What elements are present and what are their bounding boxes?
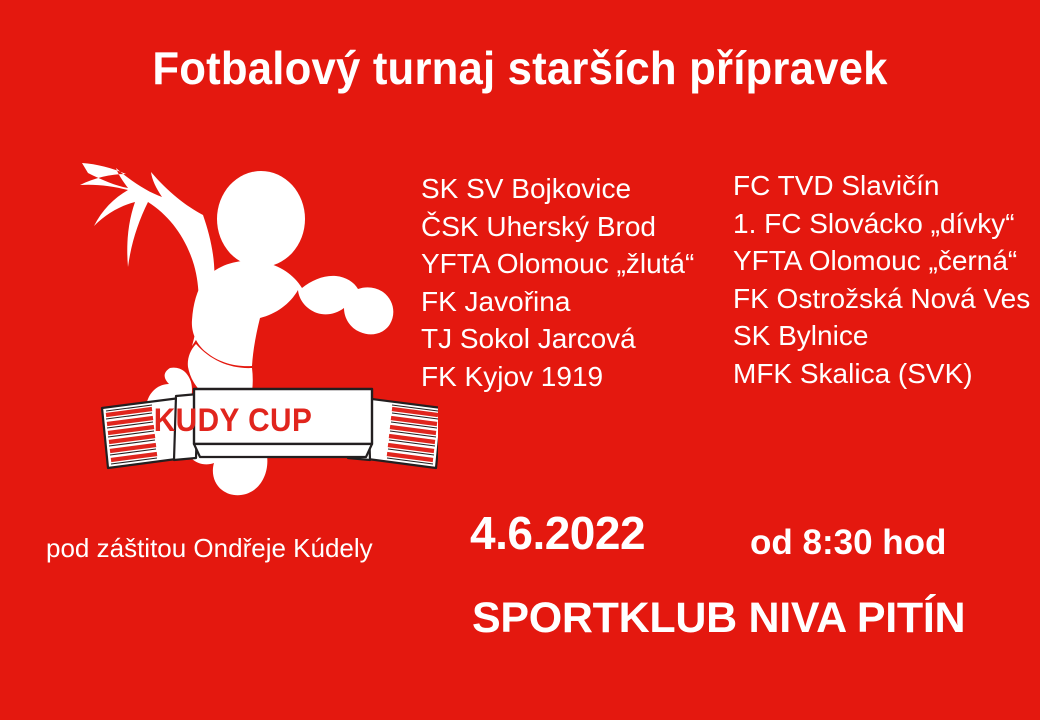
page-title: Fotbalový turnaj starších přípravek xyxy=(26,41,1014,95)
team-list-item: SK SV Bojkovice xyxy=(421,170,694,208)
runner-torso-arms xyxy=(192,261,393,366)
team-list-right: FC TVD Slavičín 1. FC Slovácko „dívky“ Y… xyxy=(733,167,1030,392)
kudy-cup-logo: KUDY CUP xyxy=(28,158,438,518)
team-list-item: SK Bylnice xyxy=(733,317,1030,355)
banner-plate xyxy=(194,389,372,444)
patron-line: pod záštitou Ondřeje Kúdely xyxy=(46,531,373,565)
team-list-item: TJ Sokol Jarcová xyxy=(421,320,694,358)
event-date: 4.6.2022 xyxy=(470,505,645,561)
runner-head xyxy=(217,171,305,267)
banner-left-fringe xyxy=(102,398,184,468)
event-start-time: od 8:30 hod xyxy=(750,521,946,565)
team-list-item: 1. FC Slovácko „dívky“ xyxy=(733,205,1030,243)
team-list-item: FC TVD Slavičín xyxy=(733,167,1030,205)
team-list-item: YFTA Olomouc „černá“ xyxy=(733,242,1030,280)
event-venue: SPORTKLUB NIVA PITÍN xyxy=(472,592,965,644)
team-list-item: FK Ostrožská Nová Ves xyxy=(733,280,1030,318)
team-list-item: YFTA Olomouc „žlutá“ xyxy=(421,245,694,283)
tournament-poster: Fotbalový turnaj starších přípravek xyxy=(0,0,1040,720)
team-list-left: SK SV Bojkovice ČSK Uherský Brod YFTA Ol… xyxy=(421,170,694,395)
team-list-item: MFK Skalica (SVK) xyxy=(733,355,1030,393)
banner-fold xyxy=(194,444,372,457)
team-list-item: FK Javořina xyxy=(421,283,694,321)
kudy-cup-logo-graphic xyxy=(28,158,438,518)
team-list-item: FK Kyjov 1919 xyxy=(421,358,694,396)
team-list-item: ČSK Uherský Brod xyxy=(421,208,694,246)
